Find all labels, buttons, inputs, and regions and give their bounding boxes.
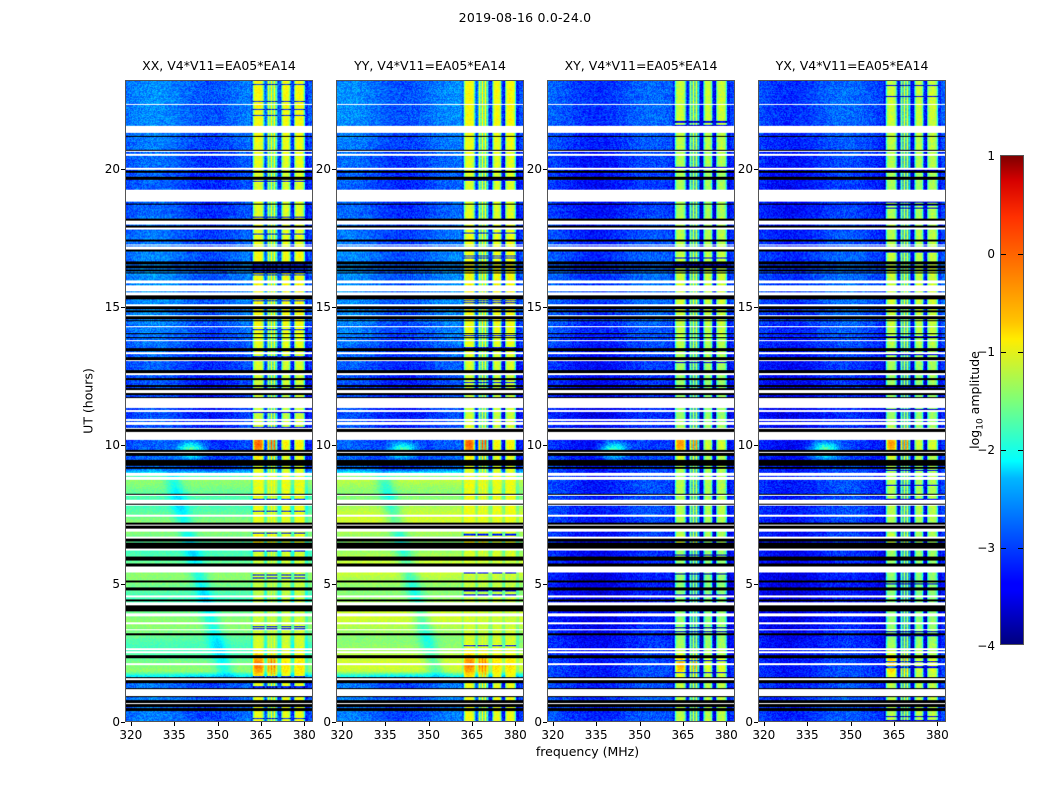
x-tick-label: 365 bbox=[460, 728, 483, 742]
y-tick-mark bbox=[332, 169, 336, 170]
y-tick-label: 15 bbox=[316, 300, 331, 314]
x-tick-mark bbox=[937, 722, 938, 726]
y-tick-mark bbox=[121, 445, 125, 446]
y-tick-mark bbox=[543, 584, 547, 585]
panel-title-yx: YX, V4*V11=EA05*EA14 bbox=[776, 58, 929, 73]
colorbar-tick-label: −4 bbox=[977, 639, 995, 653]
heatmap-image-yx bbox=[759, 81, 945, 721]
x-tick-mark bbox=[726, 722, 727, 726]
x-axis-label: frequency (MHz) bbox=[0, 744, 1050, 759]
colorbar-label-base: log bbox=[967, 430, 982, 449]
panel-xx: XX, V4*V11=EA05*EA14 3203353503653800510… bbox=[125, 80, 313, 722]
colorbar-tick-mark bbox=[1001, 548, 1006, 549]
y-tick-label: 10 bbox=[316, 438, 331, 452]
x-tick-mark bbox=[851, 722, 852, 726]
x-tick-mark bbox=[429, 722, 430, 726]
colorbar-tick-mark bbox=[1018, 254, 1023, 255]
x-tick-mark bbox=[596, 722, 597, 726]
x-tick-label: 335 bbox=[163, 728, 186, 742]
x-tick-label: 335 bbox=[796, 728, 819, 742]
y-tick-label: 10 bbox=[105, 438, 120, 452]
y-tick-label: 5 bbox=[745, 577, 753, 591]
x-tick-mark bbox=[472, 722, 473, 726]
y-tick-label: 0 bbox=[534, 715, 542, 729]
panel-title-xy: XY, V4*V11=EA05*EA14 bbox=[565, 58, 718, 73]
x-tick-label: 350 bbox=[628, 728, 651, 742]
x-tick-mark bbox=[894, 722, 895, 726]
y-axis-label: UT (hours) bbox=[81, 368, 96, 434]
y-tick-mark bbox=[332, 722, 336, 723]
panel-xy: XY, V4*V11=EA05*EA14 3203353503653800510… bbox=[547, 80, 735, 722]
heatmap-axes-xy[interactable] bbox=[547, 80, 735, 722]
x-tick-label: 380 bbox=[926, 728, 949, 742]
y-tick-mark bbox=[543, 169, 547, 170]
y-tick-label: 0 bbox=[745, 715, 753, 729]
colorbar-tick-mark bbox=[1018, 352, 1023, 353]
heatmap-axes-xx[interactable] bbox=[125, 80, 313, 722]
y-tick-label: 0 bbox=[112, 715, 120, 729]
colorbar-tick-label: 0 bbox=[987, 247, 995, 261]
x-tick-mark bbox=[683, 722, 684, 726]
y-tick-label: 15 bbox=[527, 300, 542, 314]
y-tick-label: 0 bbox=[323, 715, 331, 729]
x-tick-label: 320 bbox=[752, 728, 775, 742]
y-tick-mark bbox=[754, 722, 758, 723]
panel-yy: YY, V4*V11=EA05*EA14 3203353503653800510… bbox=[336, 80, 524, 722]
x-tick-mark bbox=[764, 722, 765, 726]
y-tick-mark bbox=[332, 307, 336, 308]
y-tick-label: 5 bbox=[534, 577, 542, 591]
x-tick-mark bbox=[131, 722, 132, 726]
y-tick-label: 15 bbox=[738, 300, 753, 314]
colorbar-label-tail: amplitude bbox=[967, 351, 982, 418]
heatmap-image-xy bbox=[548, 81, 734, 721]
x-tick-mark bbox=[640, 722, 641, 726]
x-tick-label: 350 bbox=[417, 728, 440, 742]
colorbar-tick-mark bbox=[1001, 254, 1006, 255]
x-tick-label: 320 bbox=[541, 728, 564, 742]
x-tick-label: 320 bbox=[330, 728, 353, 742]
y-tick-mark bbox=[543, 445, 547, 446]
y-tick-mark bbox=[121, 169, 125, 170]
y-tick-mark bbox=[754, 169, 758, 170]
x-tick-label: 380 bbox=[715, 728, 738, 742]
x-tick-label: 335 bbox=[374, 728, 397, 742]
heatmap-image-yy bbox=[337, 81, 523, 721]
y-tick-label: 15 bbox=[105, 300, 120, 314]
x-tick-label: 350 bbox=[206, 728, 229, 742]
x-tick-mark bbox=[261, 722, 262, 726]
colorbar-label: log10 amplitude bbox=[967, 351, 986, 449]
x-tick-label: 365 bbox=[882, 728, 905, 742]
y-tick-mark bbox=[332, 584, 336, 585]
colorbar-tick-mark bbox=[1001, 352, 1006, 353]
y-tick-mark bbox=[754, 307, 758, 308]
colorbar[interactable]: −4−3−2−101 bbox=[1000, 155, 1024, 645]
colorbar-tick-mark bbox=[1001, 450, 1006, 451]
y-tick-mark bbox=[121, 584, 125, 585]
panel-title-yy: YY, V4*V11=EA05*EA14 bbox=[354, 58, 506, 73]
y-tick-label: 20 bbox=[316, 162, 331, 176]
colorbar-gradient bbox=[1001, 156, 1023, 644]
colorbar-tick-label: −3 bbox=[977, 541, 995, 555]
heatmap-axes-yx[interactable] bbox=[758, 80, 946, 722]
x-tick-label: 320 bbox=[119, 728, 142, 742]
y-tick-mark bbox=[754, 584, 758, 585]
y-tick-label: 5 bbox=[112, 577, 120, 591]
x-tick-label: 380 bbox=[504, 728, 527, 742]
x-tick-label: 350 bbox=[839, 728, 862, 742]
figure-suptitle: 2019-08-16 0.0-24.0 bbox=[0, 10, 1050, 25]
y-tick-mark bbox=[121, 307, 125, 308]
x-tick-label: 335 bbox=[585, 728, 608, 742]
heatmap-axes-yy[interactable] bbox=[336, 80, 524, 722]
y-tick-label: 20 bbox=[738, 162, 753, 176]
y-tick-mark bbox=[543, 722, 547, 723]
heatmap-image-xx bbox=[126, 81, 312, 721]
x-tick-label: 365 bbox=[671, 728, 694, 742]
x-tick-label: 380 bbox=[293, 728, 316, 742]
y-tick-mark bbox=[121, 722, 125, 723]
y-tick-label: 10 bbox=[527, 438, 542, 452]
x-axis-label-text: frequency (MHz) bbox=[178, 744, 998, 759]
x-tick-mark bbox=[553, 722, 554, 726]
x-tick-label: 365 bbox=[249, 728, 272, 742]
x-tick-mark bbox=[515, 722, 516, 726]
y-tick-label: 10 bbox=[738, 438, 753, 452]
x-tick-mark bbox=[385, 722, 386, 726]
y-tick-mark bbox=[543, 307, 547, 308]
x-tick-mark bbox=[342, 722, 343, 726]
x-tick-mark bbox=[218, 722, 219, 726]
x-tick-mark bbox=[807, 722, 808, 726]
x-tick-mark bbox=[304, 722, 305, 726]
colorbar-tick-label: 1 bbox=[987, 149, 995, 163]
colorbar-tick-mark bbox=[1018, 548, 1023, 549]
y-tick-mark bbox=[754, 445, 758, 446]
y-tick-mark bbox=[332, 445, 336, 446]
colorbar-tick-mark bbox=[1018, 450, 1023, 451]
colorbar-label-sub: 10 bbox=[975, 418, 985, 429]
panel-title-xx: XX, V4*V11=EA05*EA14 bbox=[142, 58, 296, 73]
y-tick-label: 20 bbox=[527, 162, 542, 176]
panel-yx: YX, V4*V11=EA05*EA14 3203353503653800510… bbox=[758, 80, 946, 722]
figure-canvas: 2019-08-16 0.0-24.0 XX, V4*V11=EA05*EA14… bbox=[0, 0, 1050, 800]
y-tick-label: 20 bbox=[105, 162, 120, 176]
x-tick-mark bbox=[174, 722, 175, 726]
y-tick-label: 5 bbox=[323, 577, 331, 591]
